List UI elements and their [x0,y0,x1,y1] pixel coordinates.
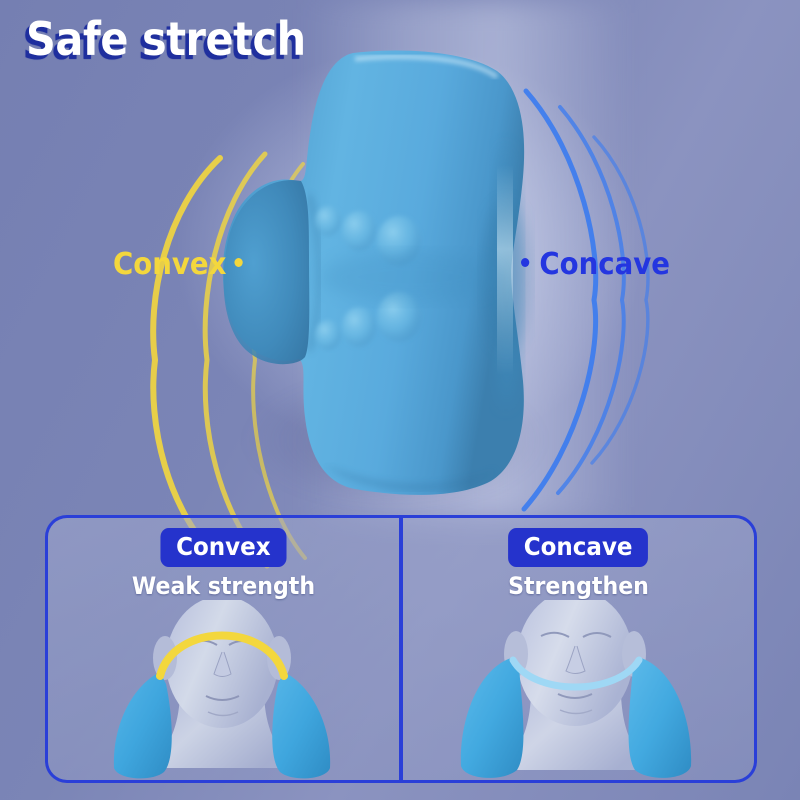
mannequin-convex-illustration [48,600,398,783]
panel-convex: Convex Weak strength [45,515,401,783]
massage-nodule [315,320,341,350]
promo-image-canvas: Safe stretch [0,0,800,800]
panel-concave-subtitle: Strengthen [417,573,740,599]
pillow-center-valley [320,251,500,303]
product-image [205,45,565,500]
panel-concave-figure [403,600,754,783]
concave-marker-dot [521,258,529,267]
panel-convex-badge: Convex [161,528,287,567]
massage-nodule [342,307,376,347]
panel-convex-figure [48,600,399,783]
callout-concave-label: Concave [539,247,670,282]
convex-marker-dot [235,258,243,267]
pillow-edge-highlight [497,165,513,375]
neck-pillow-illustration [205,45,565,500]
panel-concave: Concave Strengthen [401,515,757,783]
massage-nodule [342,211,376,251]
panel-concave-header: Concave Strengthen [403,528,754,599]
mannequin-concave-illustration [403,600,753,783]
neck-pad-left [114,672,172,778]
comparison-panels: Convex Weak strength [45,515,757,783]
panel-convex-header: Convex Weak strength [48,528,399,599]
callout-convex-label: Convex [113,247,226,282]
panel-concave-badge: Concave [508,528,648,567]
neck-pad-right [272,672,330,778]
callout-concave: Concave [521,250,670,280]
callout-convex: Convex [113,250,243,280]
neck-pad-left [461,658,524,778]
neck-pad-right [629,658,692,778]
massage-nodule [315,206,341,236]
panel-convex-subtitle: Weak strength [62,573,385,599]
